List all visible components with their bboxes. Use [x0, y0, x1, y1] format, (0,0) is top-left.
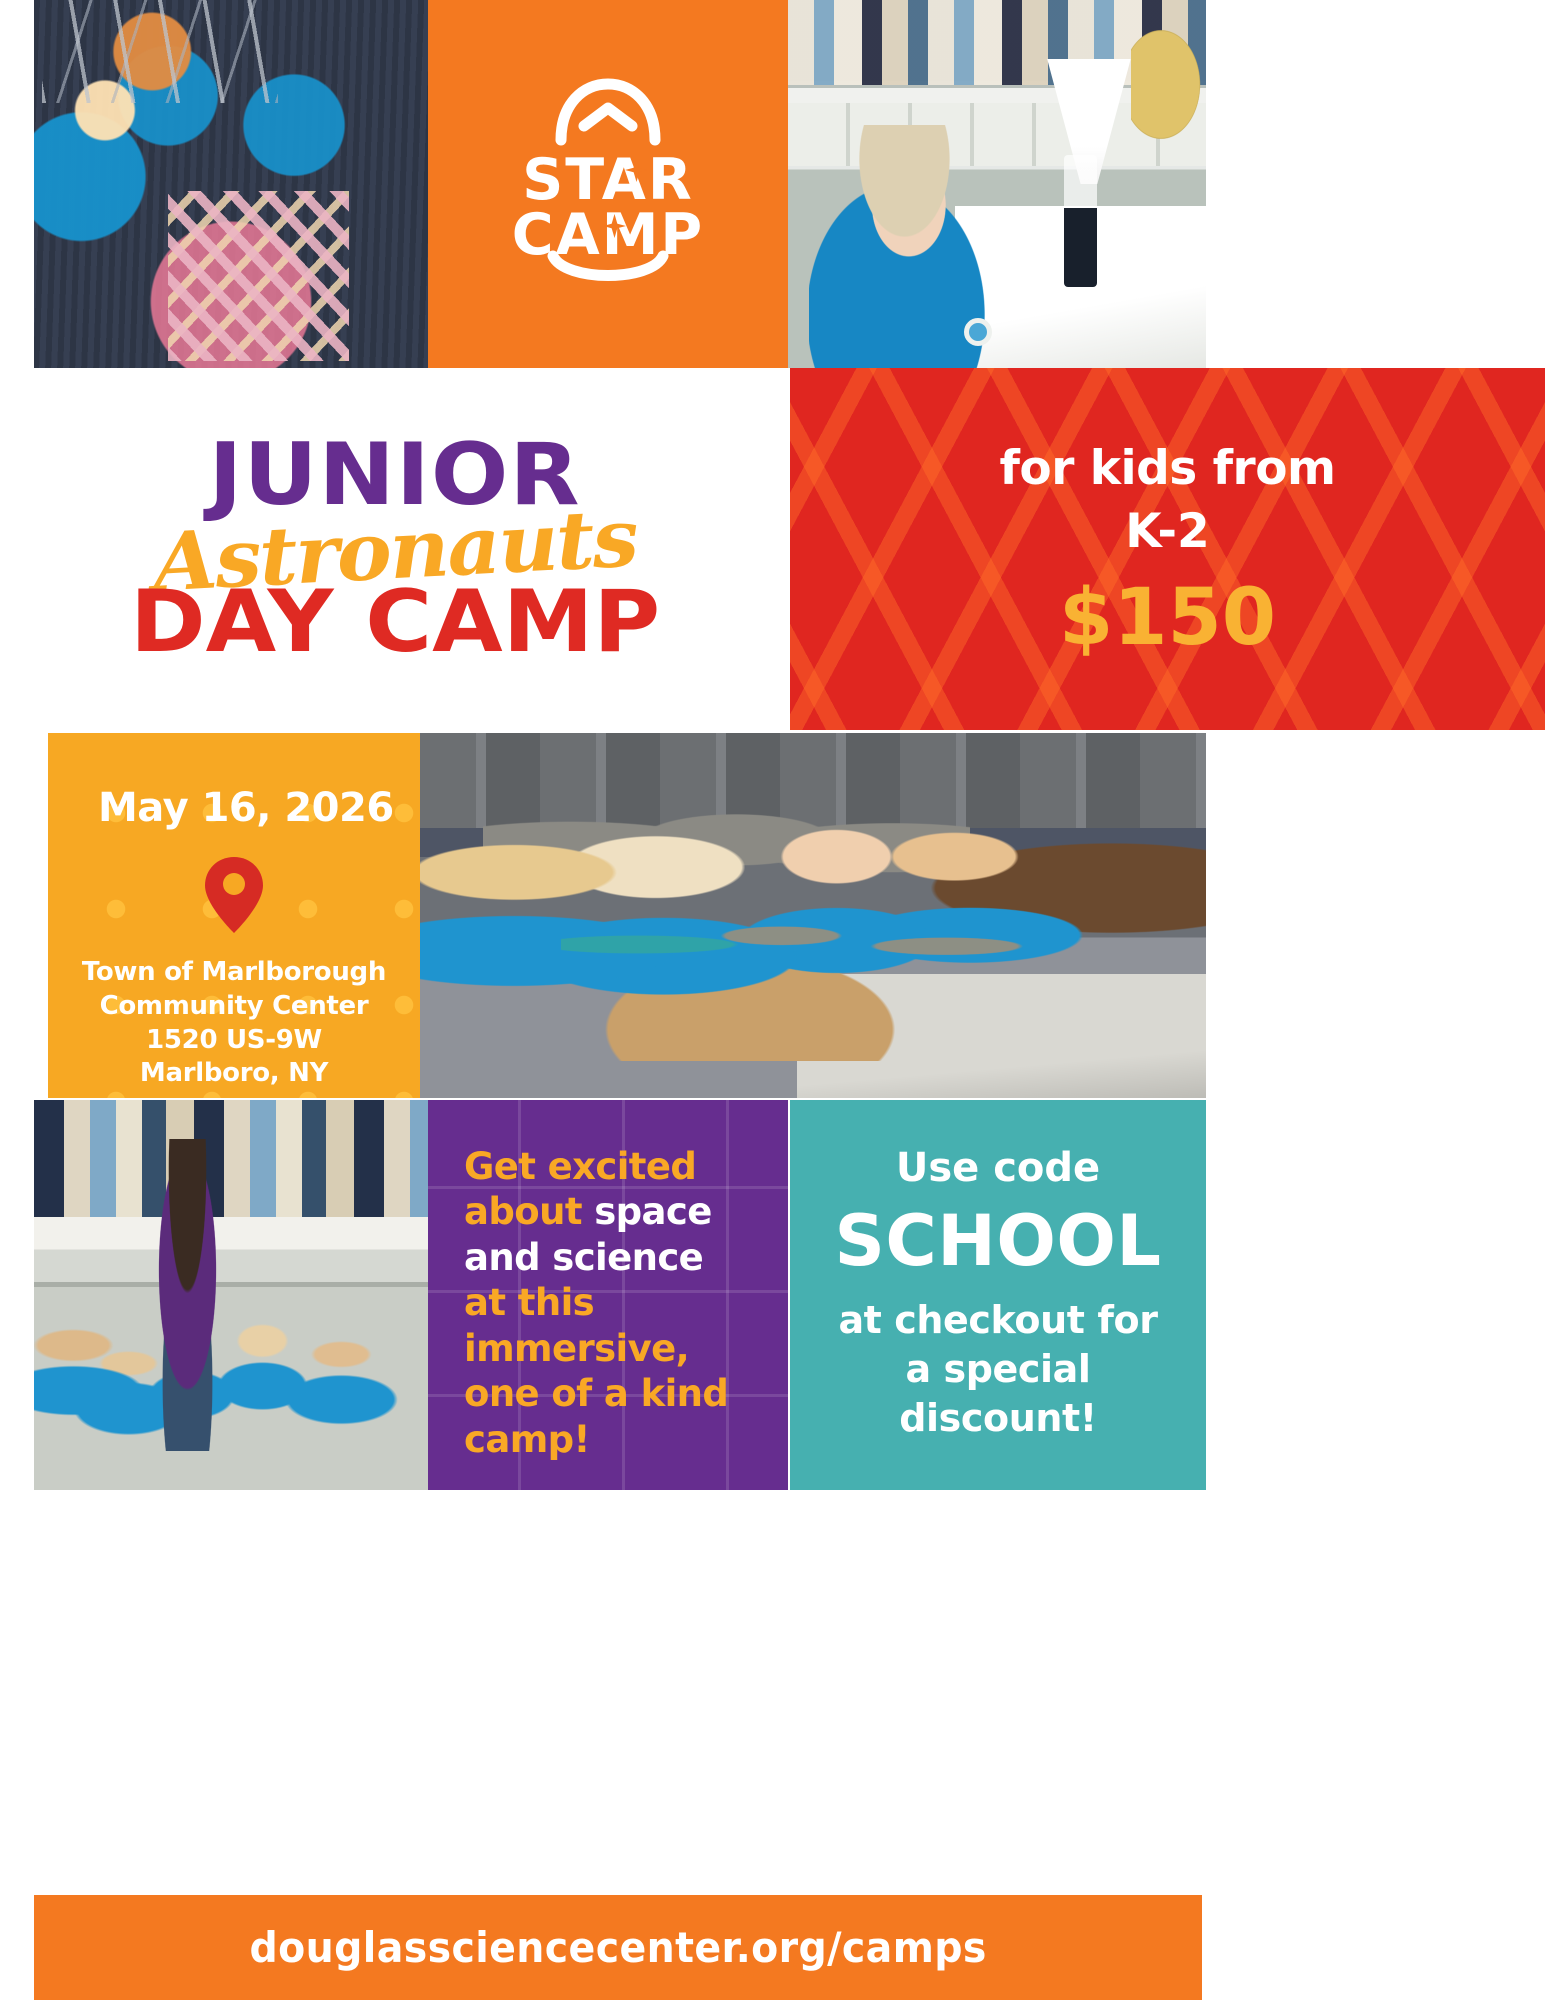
photo-lab-funnel	[788, 0, 1206, 368]
promo-tail-line-3: discount!	[838, 1394, 1157, 1443]
venue-address: Town of Marlborough Community Center 152…	[82, 956, 386, 1091]
photo-kids-building	[34, 0, 428, 368]
venue-city-state: Marlboro, NY	[82, 1057, 386, 1091]
promo-description: at checkout for a special discount!	[838, 1296, 1157, 1444]
photo-classroom-demo	[34, 1100, 428, 1490]
photo-glove-kids	[420, 733, 1206, 1098]
promo-code-value: SCHOOL	[835, 1198, 1162, 1286]
copy-seg-3: space	[594, 1190, 712, 1233]
price-grade-range: K-2	[1125, 501, 1210, 562]
title-line-day-camp: DAY CAMP	[130, 580, 660, 664]
price-audience-label: for kids from	[999, 442, 1335, 497]
copy-seg-5: at this	[464, 1281, 594, 1324]
promo-code-panel: Use code SCHOOL at checkout for a specia…	[790, 1100, 1206, 1490]
promo-use-code-label: Use code	[896, 1146, 1100, 1190]
marketing-copy-text: Get excited about space and science at t…	[464, 1144, 728, 1463]
location-pin-icon	[203, 855, 265, 940]
venue-line-2: Community Center	[82, 990, 386, 1024]
price-amount: $150	[1059, 572, 1276, 666]
promo-tail-line-1: at checkout for	[838, 1296, 1157, 1345]
website-url-bar[interactable]: douglassciencecenter.org/camps	[34, 1895, 1202, 2000]
copy-seg-2: about	[464, 1190, 594, 1233]
promo-tail-line-2: a special	[838, 1345, 1157, 1394]
copy-seg-4: and science	[464, 1236, 703, 1279]
event-info-panel: May 16, 2026 Town of Marlborough Communi…	[48, 733, 420, 1098]
copy-seg-6: immersive,	[464, 1327, 689, 1370]
price-panel: for kids from K-2 $150	[790, 368, 1545, 730]
copy-seg-1: Get excited	[464, 1145, 696, 1188]
event-date: May 16, 2026	[98, 785, 394, 831]
copy-seg-8: camp!	[464, 1418, 590, 1461]
marketing-copy-panel: Get excited about space and science at t…	[428, 1100, 788, 1490]
copy-seg-7: one of a kind	[464, 1372, 728, 1415]
venue-street: 1520 US-9W	[82, 1024, 386, 1058]
svg-text:CAMP: CAMP	[512, 202, 704, 268]
venue-line-1: Town of Marlborough	[82, 956, 386, 990]
website-url[interactable]: douglassciencecenter.org/camps	[249, 1923, 986, 1972]
star-camp-arch-logo: STAR CAMP	[483, 74, 733, 294]
poster-canvas: STAR CAMP JUNIOR Astronauts DAY CAMP	[0, 0, 1545, 2000]
star-camp-logo-panel: STAR CAMP	[428, 0, 788, 368]
camp-title-block: JUNIOR Astronauts DAY CAMP	[0, 368, 790, 730]
